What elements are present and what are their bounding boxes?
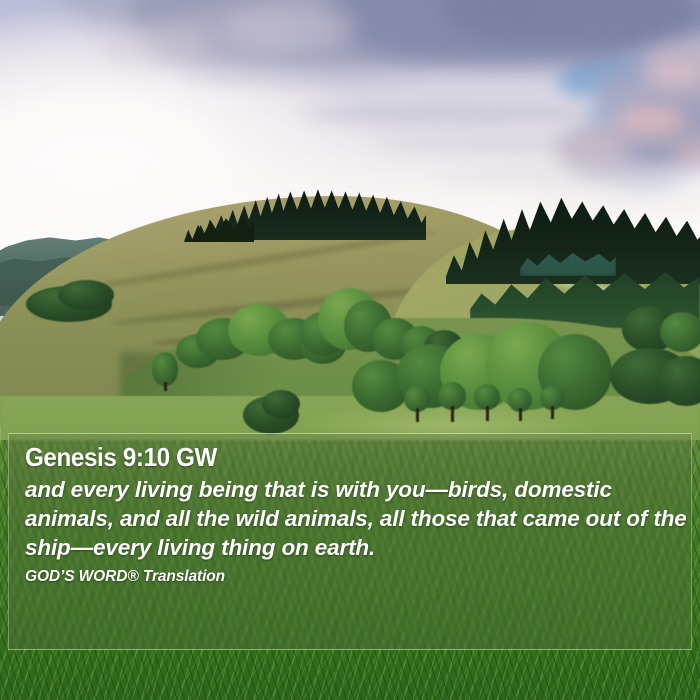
tree xyxy=(152,352,178,386)
verse-overlay-panel: Genesis 9:10 GW and every living being t… xyxy=(8,433,692,650)
tree xyxy=(58,280,114,310)
tree-trunk xyxy=(416,408,419,422)
verse-text: and every living being that is with you—… xyxy=(25,476,691,563)
tree xyxy=(660,312,700,352)
translation-attribution: GOD’S WORD® Translation xyxy=(25,568,691,586)
verse-reference: Genesis 9:10 GW xyxy=(25,443,644,472)
tree-trunk xyxy=(486,406,489,421)
tree xyxy=(262,390,300,418)
cloud-streak xyxy=(300,104,600,124)
tree-trunk xyxy=(519,408,522,421)
cloud xyxy=(100,26,210,66)
cloud xyxy=(226,2,356,52)
verse-image-card: Genesis 9:10 GW and every living being t… xyxy=(0,0,700,700)
tree-trunk xyxy=(451,406,454,422)
tree-trunk xyxy=(551,406,554,419)
tree-trunk xyxy=(164,382,167,391)
sunlit-cloud xyxy=(646,58,700,86)
sunlit-cloud xyxy=(612,104,688,138)
cloud-streak xyxy=(180,72,420,86)
